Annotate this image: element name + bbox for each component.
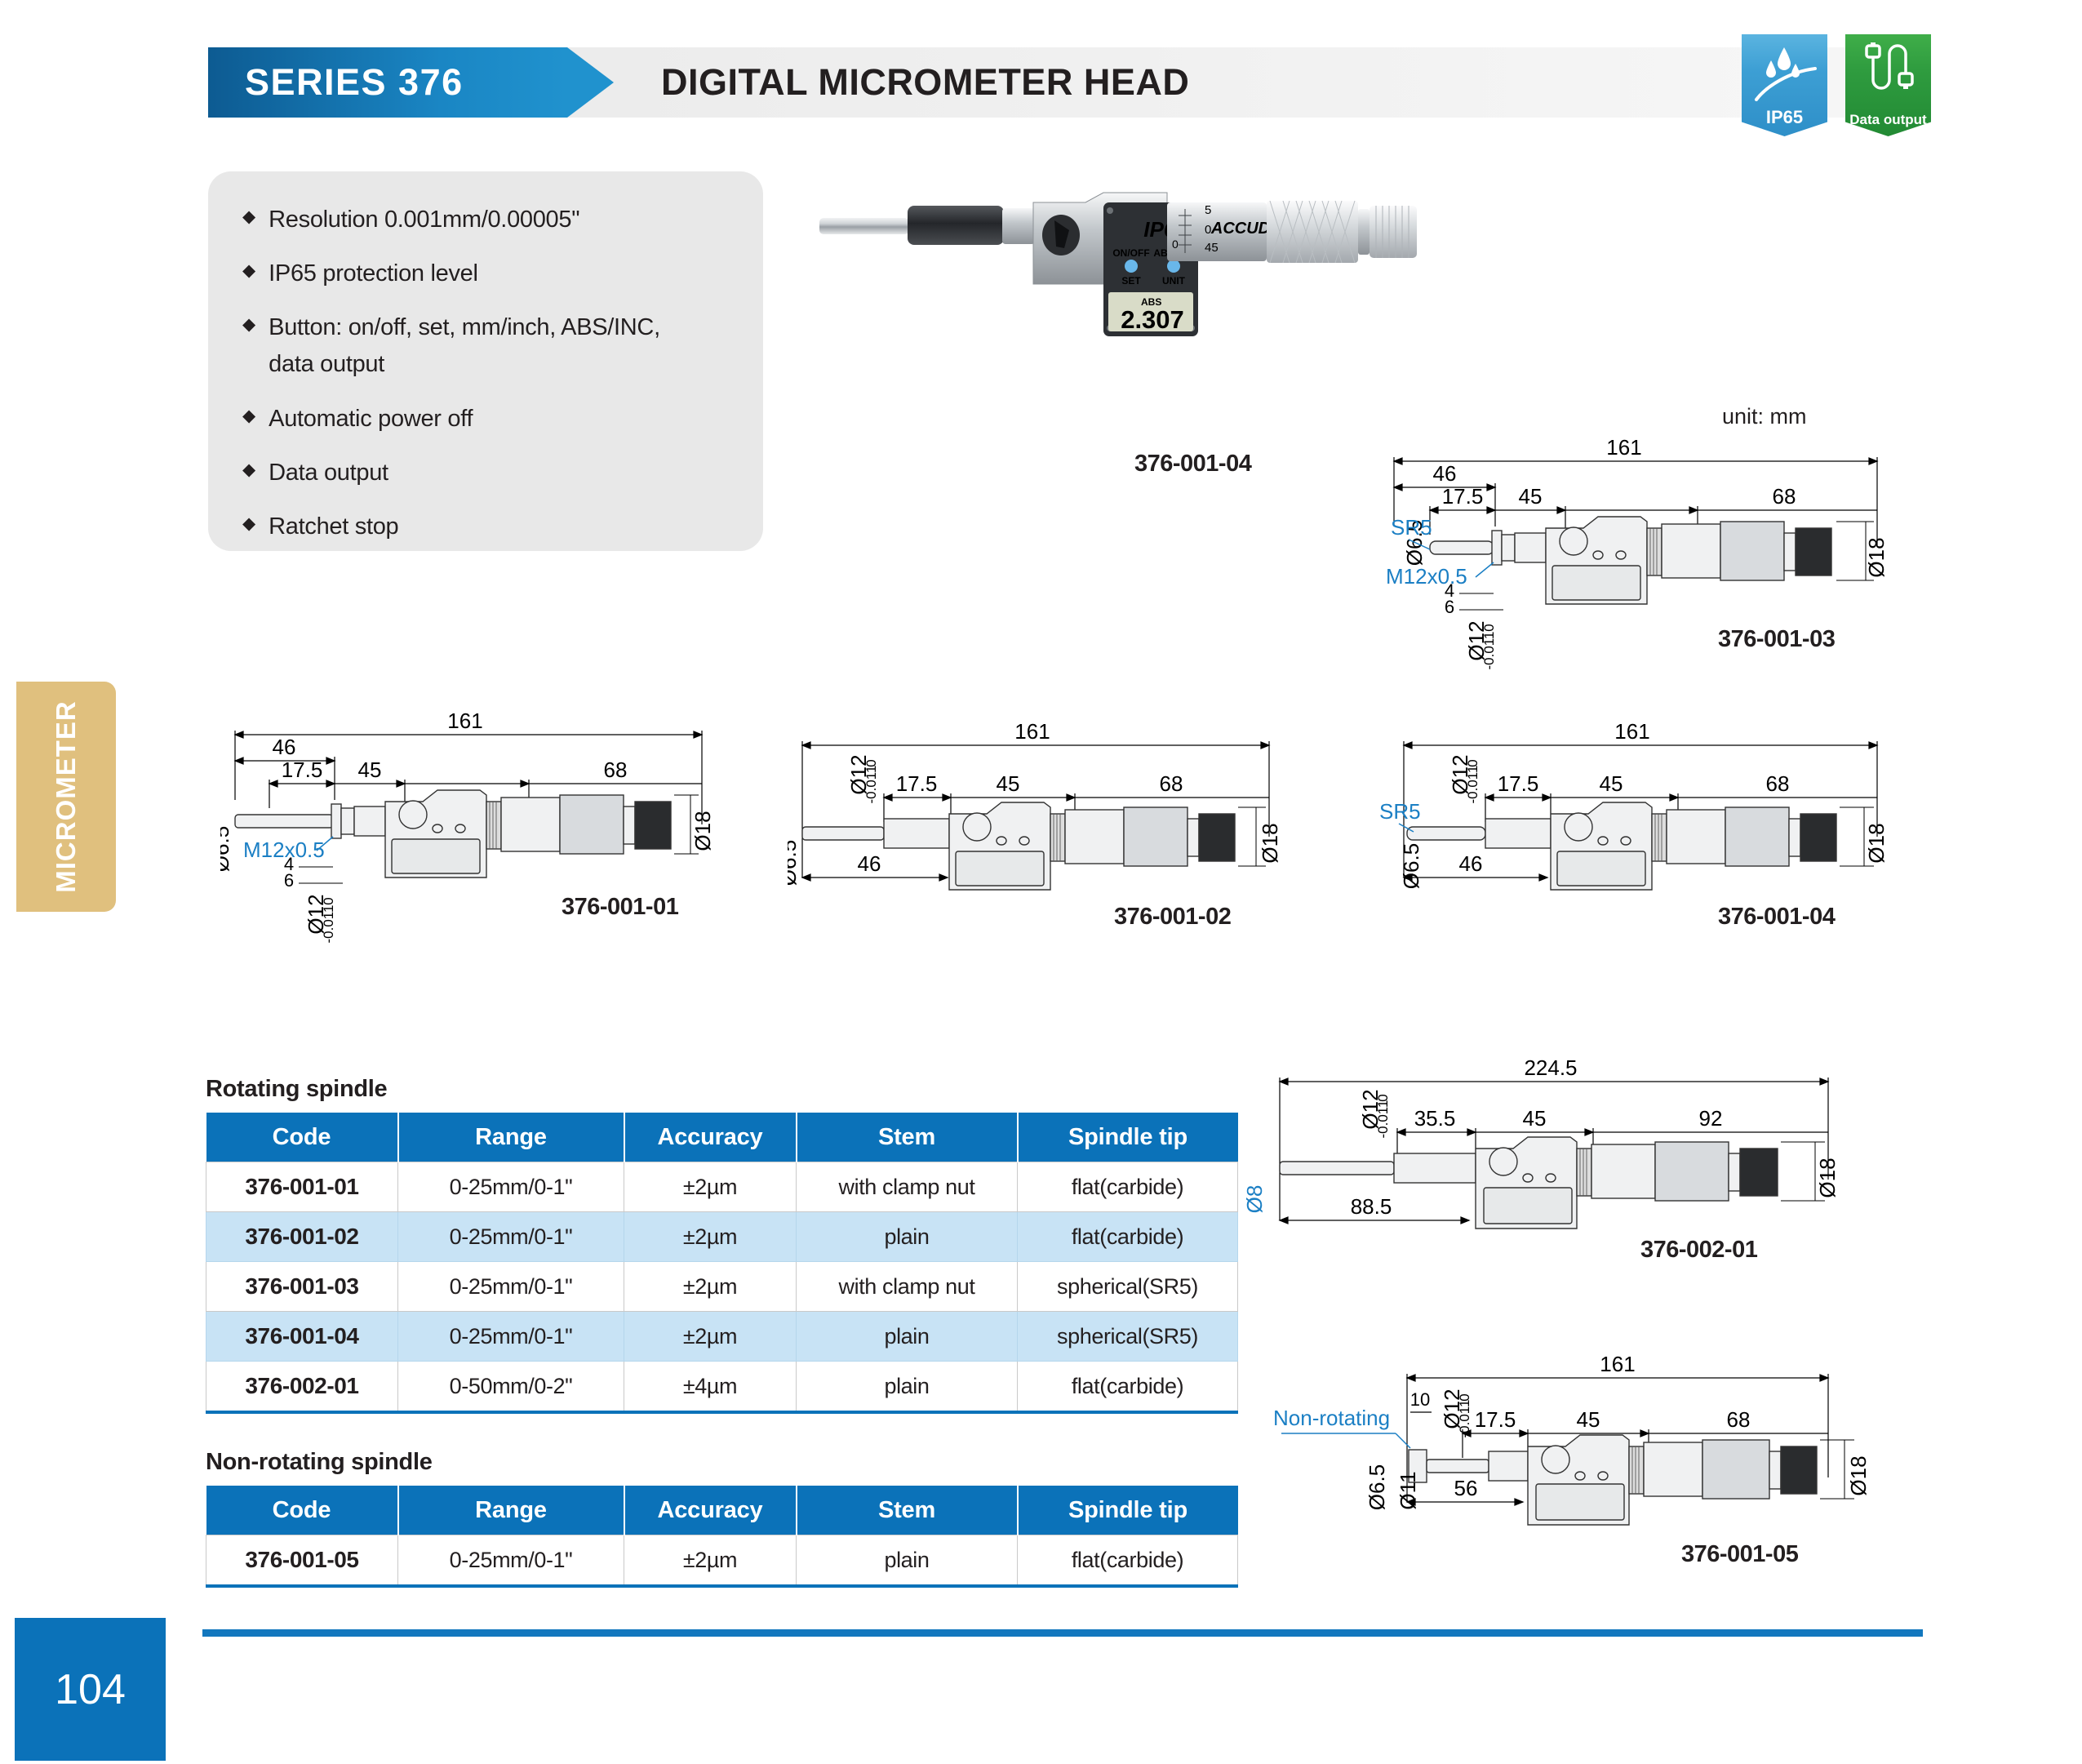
callout-m12x0-5: M12x0.5 <box>1386 564 1467 589</box>
dim-46: 46 <box>858 851 881 876</box>
col-code: Code <box>206 1113 398 1162</box>
cell-spindle-tip: spherical(SR5) <box>1018 1312 1238 1362</box>
dim-tol-top: 0 <box>1481 624 1497 631</box>
table-row: 376-001-03 0-25mm/0-1" ±2µm with clamp n… <box>206 1262 1238 1312</box>
photo-product-code: 376-001-04 <box>1134 451 1251 478</box>
callout-sr5: SR5 <box>1391 515 1432 540</box>
drawing-code: 376-002-01 <box>1640 1237 1757 1264</box>
dim-45: 45 <box>1519 484 1543 509</box>
drawing-376-001-01: 161 46 17.5 45 68 Ø18 Ø6.5 <box>220 710 726 947</box>
table-row: 376-002-01 0-50mm/0-2" ±4µm plain flat(c… <box>206 1362 1238 1413</box>
callout-sr5: SR5 <box>1379 799 1421 824</box>
drawing-code: 376-001-04 <box>1718 904 1835 931</box>
table-title: Non-rotating spindle <box>206 1449 1238 1476</box>
cell-range: 0-25mm/0-1" <box>398 1535 624 1587</box>
footer-rule <box>202 1629 1923 1637</box>
drawing-code: 376-001-01 <box>562 894 678 921</box>
table-header-row: Code Range Accuracy Stem Spindle tip <box>206 1486 1238 1535</box>
dim-88-5: 88.5 <box>1351 1194 1392 1219</box>
cell-code: 376-001-04 <box>206 1312 398 1362</box>
dim-17-5: 17.5 <box>1475 1407 1516 1432</box>
badge-group: IP65 Data output <box>1742 34 1931 136</box>
dim-161: 161 <box>1606 437 1641 460</box>
photo-lcd-value: 2.307 <box>1121 305 1184 334</box>
dim-35-5: 35.5 <box>1414 1106 1456 1131</box>
badge-ip65-label: IP65 <box>1766 109 1803 127</box>
cell-stem: plain <box>797 1535 1018 1587</box>
features-list: ◆Resolution 0.001mm/0.00005" ◆IP65 prote… <box>242 204 732 565</box>
feature-item: ◆Ratchet stop <box>242 511 732 543</box>
dim-dia11: Ø11 <box>1396 1471 1420 1509</box>
col-stem: Stem <box>797 1486 1018 1535</box>
table-rotating-spindle: Code Range Accuracy Stem Spindle tip 376… <box>206 1113 1238 1414</box>
dim-45: 45 <box>1577 1407 1600 1432</box>
dim-tol-bottom: -0.011 <box>1457 1400 1472 1438</box>
drawing-code: 376-001-02 <box>1114 904 1231 931</box>
series-tag: SERIES 376 <box>208 47 567 118</box>
dim-6: 6 <box>284 870 294 891</box>
badge-data-output-label: Data output <box>1849 113 1926 127</box>
dim-56: 56 <box>1454 1476 1478 1500</box>
table-non-rotating-spindle-block: Non-rotating spindle Code Range Accuracy… <box>206 1449 1238 1588</box>
dim-161: 161 <box>1014 722 1050 744</box>
cell-code: 376-001-03 <box>206 1262 398 1312</box>
table-rotating-spindle-block: Rotating spindle Code Range Accuracy Ste… <box>206 1076 1238 1414</box>
cell-code: 376-001-05 <box>206 1535 398 1587</box>
dim-6: 6 <box>1445 597 1454 617</box>
dim-17-5: 17.5 <box>1442 484 1484 509</box>
cell-spindle-tip: flat(carbide) <box>1018 1535 1238 1587</box>
drawing-376-002-01: 224.5 35.5 45 92 88.5 Ø18 Ø8 Ø12 <box>1224 1057 1910 1302</box>
dim-dia6-5: Ø6.5 <box>788 840 801 886</box>
dim-tol-bottom: -0.011 <box>863 766 879 804</box>
drawing-code: 376-001-03 <box>1718 626 1835 653</box>
cell-accuracy: ±4µm <box>624 1362 797 1413</box>
water-drops-icon <box>1742 41 1827 101</box>
dim-dia18: Ø18 <box>1815 1157 1840 1197</box>
table-row: 376-001-05 0-25mm/0-1" ±2µm plain flat(c… <box>206 1535 1238 1587</box>
drawing-code: 376-001-05 <box>1681 1541 1798 1568</box>
dim-161: 161 <box>1614 722 1649 744</box>
feature-item-cont: ◆data output <box>242 349 732 380</box>
dim-68: 68 <box>604 758 628 782</box>
feature-item: ◆Button: on/off, set, mm/inch, ABS/INC, <box>242 312 732 344</box>
dim-17-5: 17.5 <box>896 771 938 796</box>
dim-tol-bottom: -0.011 <box>1481 632 1497 670</box>
photo-button-onoff <box>1125 260 1138 273</box>
cell-range: 0-25mm/0-1" <box>398 1162 624 1212</box>
col-code: Code <box>206 1486 398 1535</box>
photo-thimble-tick: 45 <box>1205 241 1219 255</box>
col-range: Range <box>398 1113 624 1162</box>
feature-item: ◆IP65 protection level <box>242 258 732 290</box>
badge-data-output: Data output <box>1845 34 1931 136</box>
table-row: 376-001-01 0-25mm/0-1" ±2µm with clamp n… <box>206 1162 1238 1212</box>
cell-code: 376-002-01 <box>206 1362 398 1413</box>
dim-161: 161 <box>1600 1355 1635 1376</box>
page-title: DIGITAL MICROMETER HEAD <box>661 47 1189 118</box>
drawing-376-001-04: 161 17.5 45 68 46 Ø18 SR5 Ø6.5 <box>1379 722 1902 959</box>
photo-thimble-tick: 5 <box>1205 203 1211 217</box>
dim-dia18: Ø18 <box>1864 537 1889 577</box>
data-cable-icon <box>1845 41 1931 101</box>
dim-45: 45 <box>997 771 1020 796</box>
page-number-box: 104 <box>15 1618 166 1761</box>
cell-stem: with clamp nut <box>797 1262 1018 1312</box>
cell-range: 0-50mm/0-2" <box>398 1362 624 1413</box>
dim-68: 68 <box>1773 484 1796 509</box>
dim-tol-bottom: -0.011 <box>321 905 336 944</box>
cell-accuracy: ±2µm <box>624 1212 797 1262</box>
table-row: 376-001-02 0-25mm/0-1" ±2µm plain flat(c… <box>206 1212 1238 1262</box>
feature-item: ◆Data output <box>242 457 732 489</box>
cell-accuracy: ±2µm <box>624 1312 797 1362</box>
cell-spindle-tip: flat(carbide) <box>1018 1362 1238 1413</box>
table-row: 376-001-04 0-25mm/0-1" ±2µm plain spheri… <box>206 1312 1238 1362</box>
section-tab-micrometer: MICROMETER <box>16 682 116 912</box>
badge-ip65: IP65 <box>1742 34 1827 136</box>
cell-stem: with clamp nut <box>797 1162 1018 1212</box>
drawing-376-001-02: 161 17.5 45 68 46 Ø18 Ø6.5 Ø12 0 <box>788 722 1294 959</box>
cell-code: 376-001-01 <box>206 1162 398 1212</box>
dim-dia18: Ø18 <box>1258 823 1282 863</box>
cell-code: 376-001-02 <box>206 1212 398 1262</box>
feature-item: ◆Resolution 0.001mm/0.00005" <box>242 204 732 236</box>
dim-161: 161 <box>447 710 482 733</box>
cell-range: 0-25mm/0-1" <box>398 1212 624 1262</box>
dim-17-5: 17.5 <box>1498 771 1539 796</box>
photo-button-onoff-label: ON/OFF <box>1112 247 1149 259</box>
dim-dia18: Ø18 <box>690 811 715 851</box>
bullet-diamond-icon: ◆ <box>242 403 255 430</box>
dim-224-5: 224.5 <box>1524 1057 1577 1080</box>
dim-46: 46 <box>1459 851 1483 876</box>
cell-stem: plain <box>797 1312 1018 1362</box>
table-non-rotating-spindle: Code Range Accuracy Stem Spindle tip 376… <box>206 1486 1238 1588</box>
col-stem: Stem <box>797 1113 1018 1162</box>
dim-dia18: Ø18 <box>1864 823 1889 863</box>
dim-tol-bottom: -0.011 <box>1465 766 1480 804</box>
bullet-diamond-icon: ◆ <box>242 258 255 285</box>
feature-item: ◆Automatic power off <box>242 403 732 435</box>
cell-accuracy: ±2µm <box>624 1262 797 1312</box>
series-arrow-icon <box>567 47 614 118</box>
dim-68: 68 <box>1727 1407 1751 1432</box>
dim-tol-bottom: -0.011 <box>1375 1100 1391 1139</box>
dim-45: 45 <box>1600 771 1623 796</box>
cell-range: 0-25mm/0-1" <box>398 1312 624 1362</box>
dim-45: 45 <box>1523 1106 1547 1131</box>
dim-92: 92 <box>1699 1106 1723 1131</box>
cell-range: 0-25mm/0-1" <box>398 1262 624 1312</box>
table-title: Rotating spindle <box>206 1076 1238 1103</box>
table-header-row: Code Range Accuracy Stem Spindle tip <box>206 1113 1238 1162</box>
dim-10: 10 <box>1410 1389 1430 1410</box>
photo-brand-label: ACCUD <box>1210 220 1270 238</box>
cell-spindle-tip: spherical(SR5) <box>1018 1262 1238 1312</box>
bullet-diamond-icon: ◆ <box>242 204 255 231</box>
photo-button-unit-label: UNIT <box>1162 275 1186 287</box>
drawing-376-001-03: 161 46 17.5 45 68 Ø18 <box>1379 437 1902 673</box>
page-number: 104 <box>55 1665 126 1714</box>
col-spindle-tip: Spindle tip <box>1018 1113 1238 1162</box>
dim-45: 45 <box>358 758 382 782</box>
dim-dia6-5: Ø6.5 <box>220 826 233 872</box>
section-tab-label: MICROMETER <box>51 700 82 893</box>
features-panel: ◆Resolution 0.001mm/0.00005" ◆IP65 prote… <box>208 171 763 551</box>
bullet-diamond-icon: ◆ <box>242 457 255 484</box>
dim-dia18: Ø18 <box>1846 1455 1871 1495</box>
photo-button-absinc <box>1167 260 1180 273</box>
bullet-diamond-icon: ◆ <box>242 312 255 339</box>
dim-68: 68 <box>1160 771 1183 796</box>
series-label: SERIES 376 <box>208 61 464 104</box>
photo-button-set-label: SET <box>1121 275 1141 287</box>
photo-thimble-tick: 0 <box>1172 238 1179 251</box>
bullet-diamond-icon: ◆ <box>242 511 255 538</box>
col-accuracy: Accuracy <box>624 1486 797 1535</box>
dim-tol-top: 0 <box>321 897 336 904</box>
cell-spindle-tip: flat(carbide) <box>1018 1162 1238 1212</box>
dim-46: 46 <box>1433 461 1457 486</box>
dim-dia8: Ø8 <box>1242 1185 1267 1214</box>
cell-spindle-tip: flat(carbide) <box>1018 1212 1238 1262</box>
col-range: Range <box>398 1486 624 1535</box>
micrometer-photo-illustration: IP65 ON/OFF SET ABS/INC UNIT ABS 2.307 5… <box>816 188 1420 441</box>
col-accuracy: Accuracy <box>624 1113 797 1162</box>
product-photo-376-001-04: IP65 ON/OFF SET ABS/INC UNIT ABS 2.307 5… <box>816 188 1420 441</box>
callout-non-rotating: Non-rotating <box>1273 1406 1390 1430</box>
unit-note: unit: mm <box>1722 404 1807 429</box>
dim-dia6-5: Ø6.5 <box>1365 1464 1389 1510</box>
dim-17-5: 17.5 <box>282 758 323 782</box>
col-spindle-tip: Spindle tip <box>1018 1486 1238 1535</box>
dim-68: 68 <box>1766 771 1790 796</box>
drawing-376-001-05: 161 17.5 45 68 56 10 Ø18 Non-r <box>1224 1355 1910 1592</box>
dim-46: 46 <box>273 735 296 759</box>
dim-dia6-5: Ø6.5 <box>1399 843 1423 889</box>
cell-accuracy: ±2µm <box>624 1162 797 1212</box>
cell-stem: plain <box>797 1362 1018 1413</box>
cell-accuracy: ±2µm <box>624 1535 797 1587</box>
cell-stem: plain <box>797 1212 1018 1262</box>
